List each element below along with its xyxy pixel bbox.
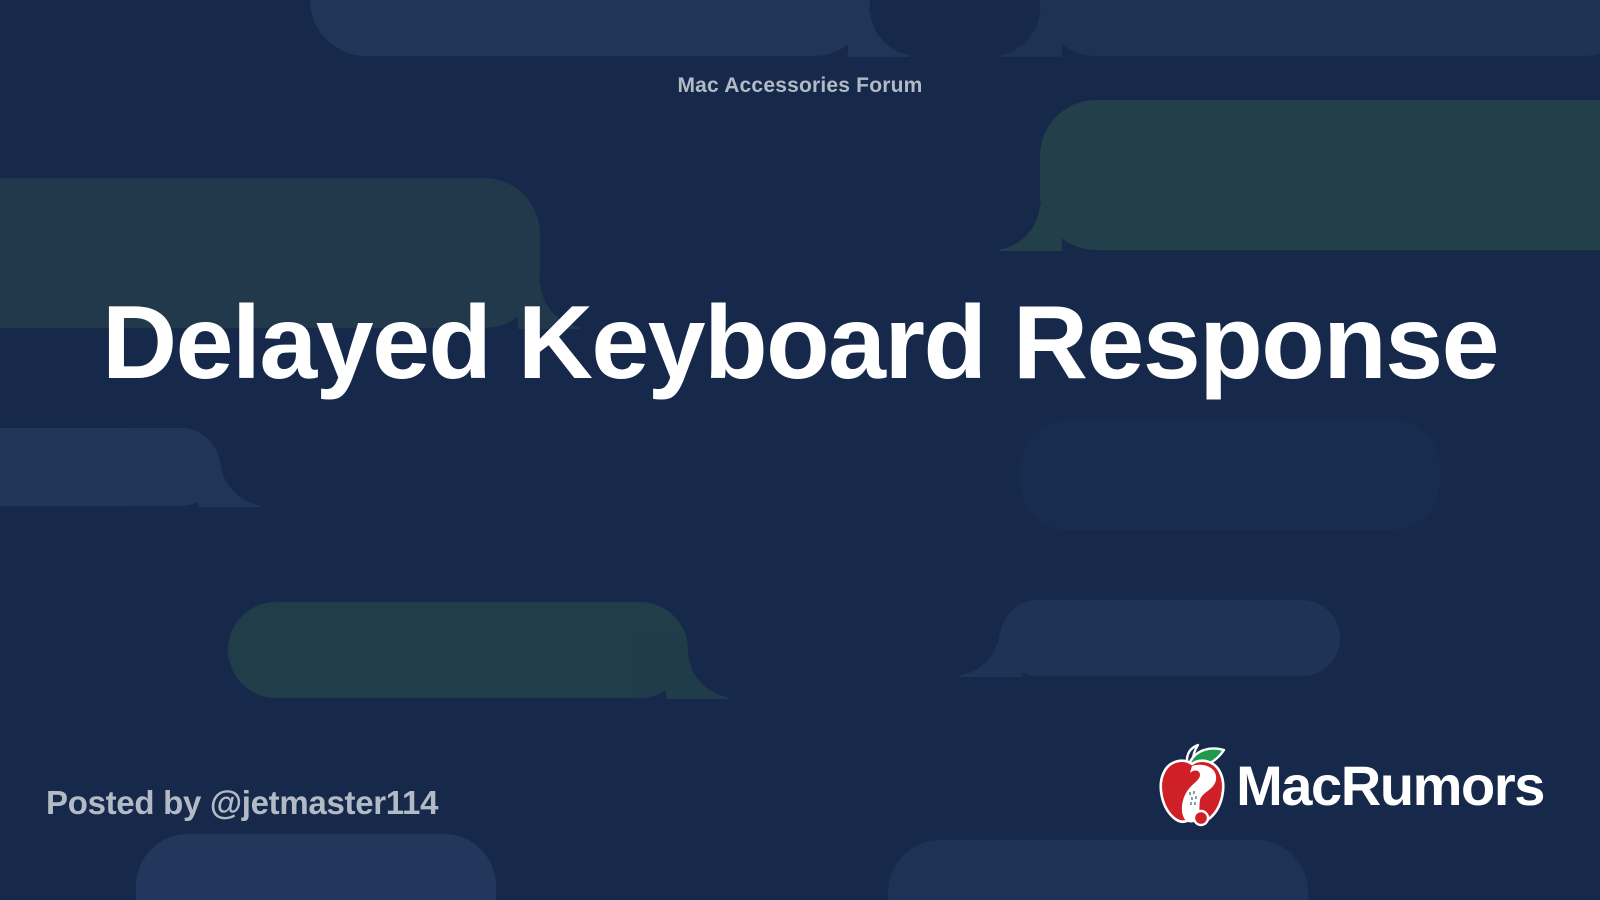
brand-name-label: MacRumors (1236, 753, 1544, 818)
card-content: Mac Accessories Forum Delayed Keyboard R… (0, 0, 1600, 900)
thread-title-container: Delayed Keyboard Response (90, 280, 1510, 407)
page-title: Delayed Keyboard Response (90, 280, 1510, 407)
macrumors-brand-lockup: MacRumors (1156, 742, 1544, 828)
forum-share-card: Mac Accessories Forum Delayed Keyboard R… (0, 0, 1600, 900)
macrumors-apple-question-mark-icon (1156, 742, 1230, 828)
forum-name-label: Mac Accessories Forum (0, 74, 1600, 98)
posted-by-label: Posted by @jetmaster114 (46, 784, 438, 822)
